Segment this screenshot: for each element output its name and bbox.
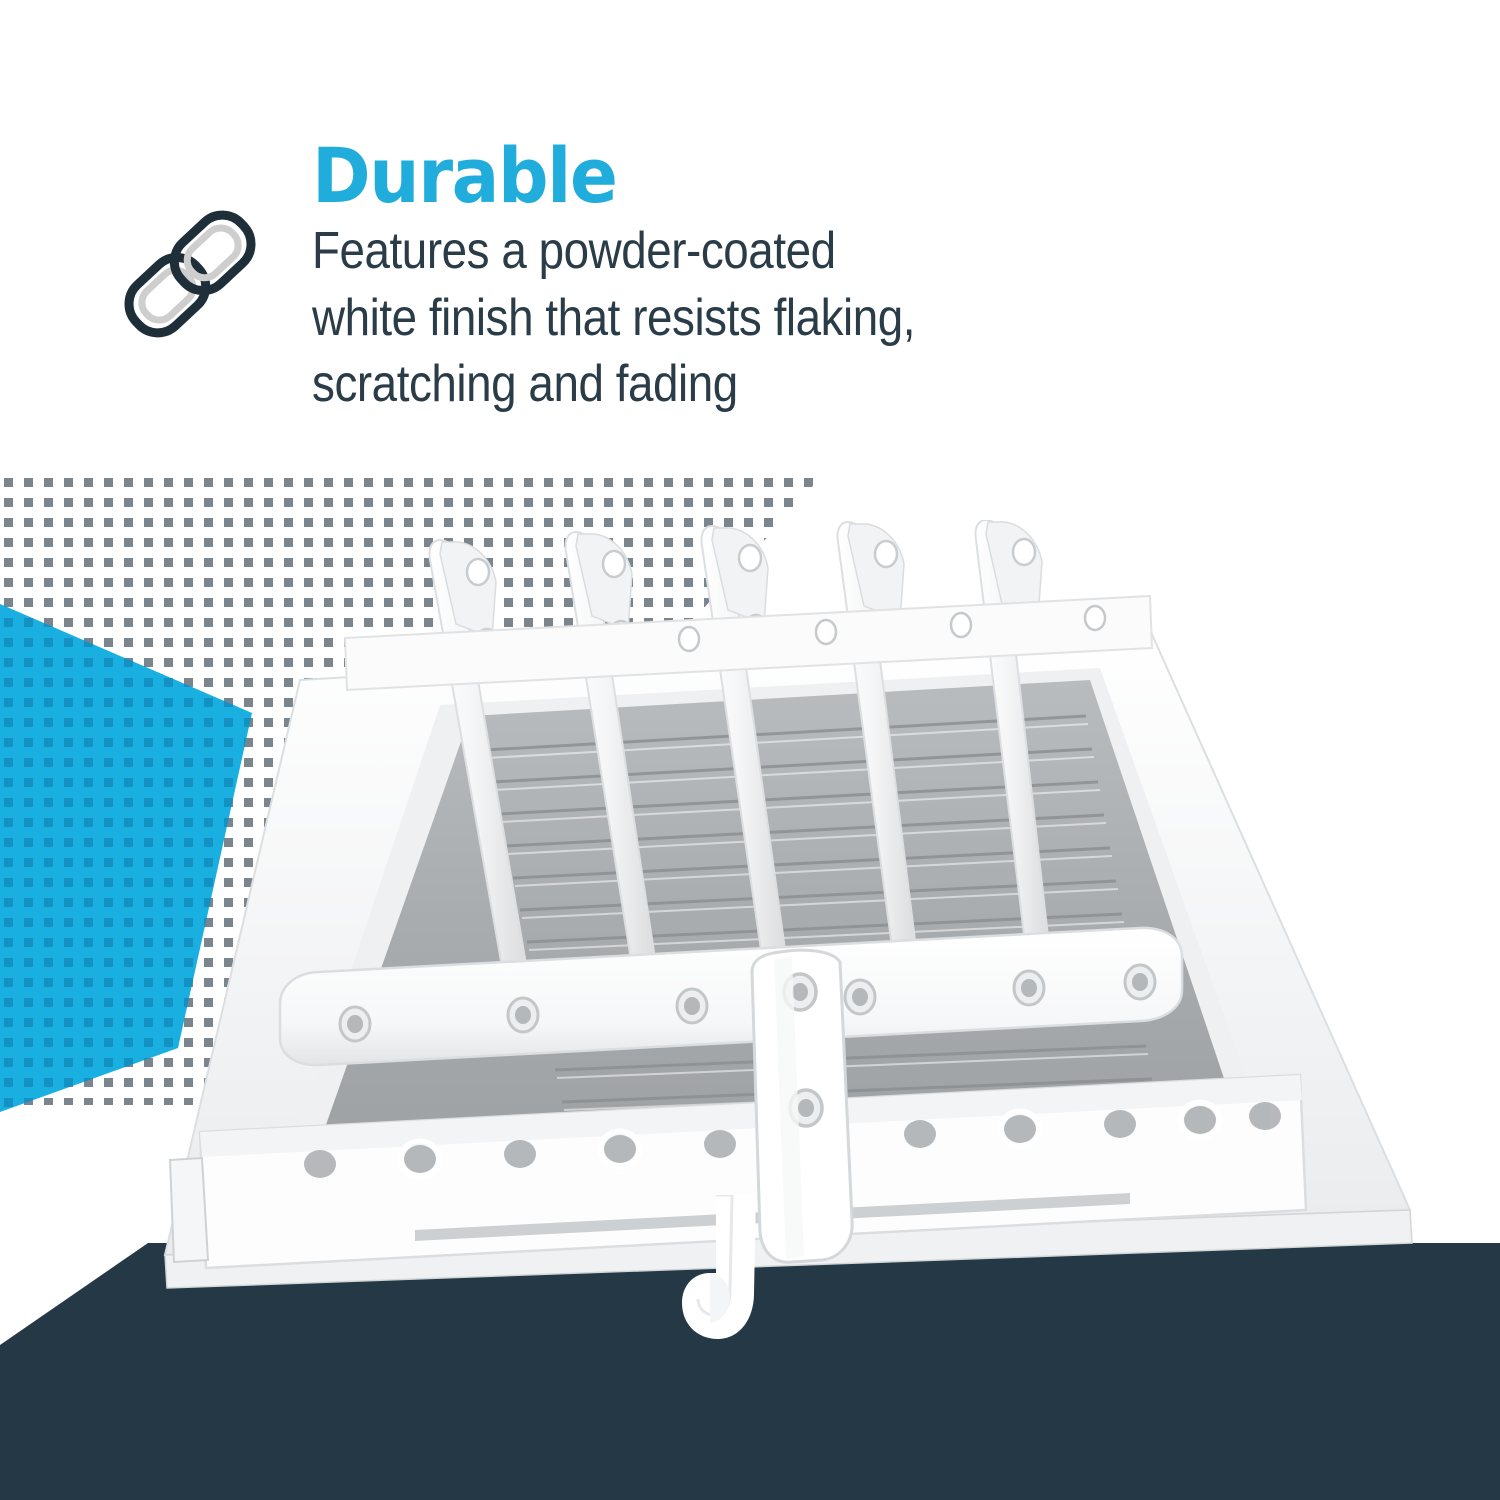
infographic-canvas: Durable Features a powder-coated white f…: [0, 0, 1500, 1500]
page-title: Durable: [312, 140, 1093, 212]
left-side-bracket: [170, 1158, 208, 1262]
chain-link-icon: [104, 188, 276, 360]
feature-header: Durable Features a powder-coated white f…: [0, 0, 1200, 440]
feature-description: Features a powder-coated white finish th…: [312, 218, 1051, 418]
header-text-block: Durable Features a powder-coated white f…: [312, 140, 1152, 418]
damper-lever-hook: [660, 1195, 840, 1415]
